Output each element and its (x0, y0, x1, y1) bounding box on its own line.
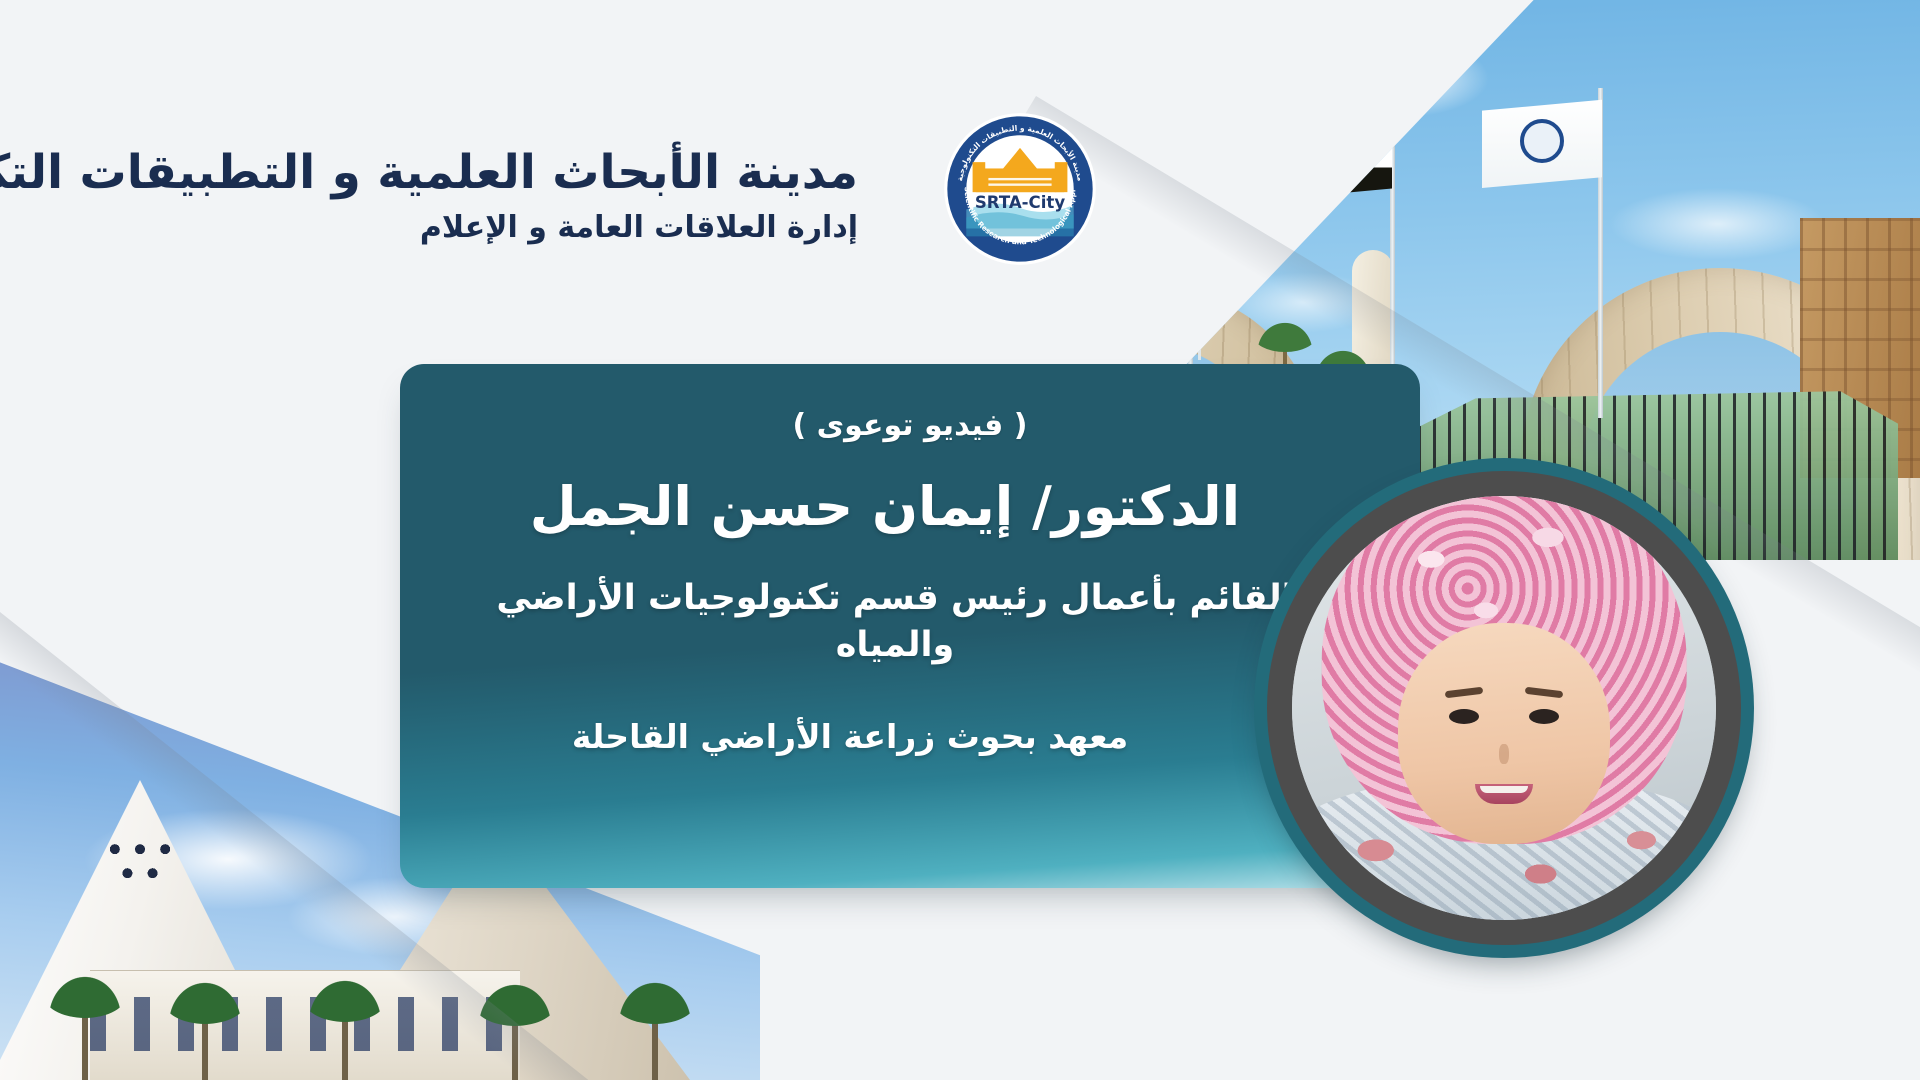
palm-tree-icon (40, 970, 130, 1080)
person-name: الدكتور/ إيمان حسن الجمل (460, 473, 1360, 541)
portrait-eye-left (1449, 709, 1479, 724)
portrait-outer-ring (1254, 458, 1754, 958)
organization-name: مدينة الأبحاث العلمية و التطبيقات التكنو… (0, 146, 858, 200)
palm-tree-icon (160, 976, 250, 1080)
portrait-nose (1499, 744, 1509, 764)
street-lamp (1162, 268, 1165, 378)
portrait-eyebrow-right (1525, 687, 1564, 699)
avatar (1292, 496, 1716, 920)
portrait-eye-right (1529, 709, 1559, 724)
video-tag: ( فيديو توعوى ) (460, 408, 1360, 443)
palm-tree-icon (610, 976, 700, 1080)
palm-tree-icon (470, 978, 560, 1080)
announcement-canvas: مدينة الأبحاث العلمية و التطبيقات التكنو… (0, 0, 1920, 1080)
department-name: إدارة العلاقات العامة و الإعلام (0, 208, 858, 247)
portrait-mouth (1475, 784, 1533, 804)
srta-city-logo: SRTA-City مدينة الأبحاث العلمية و التطبي… (941, 110, 1099, 268)
portrait-eyebrow-left (1444, 687, 1483, 699)
emblem-flag (1482, 98, 1602, 188)
header-block: مدينة الأبحاث العلمية و التطبيقات التكنو… (0, 146, 900, 247)
svg-text:SRTA-City: SRTA-City (975, 193, 1065, 212)
person-institute: معهد بحوث زراعة الأراضي القاحلة (460, 715, 1360, 760)
person-role: القائم بأعمال رئيس قسم تكنولوجيات الأراض… (460, 575, 1360, 670)
street-lamp (1198, 210, 1201, 360)
portrait-inner-ring (1267, 471, 1741, 945)
palm-tree-icon (300, 974, 390, 1080)
portrait-face (1398, 623, 1610, 843)
egypt-flag (1268, 104, 1392, 200)
